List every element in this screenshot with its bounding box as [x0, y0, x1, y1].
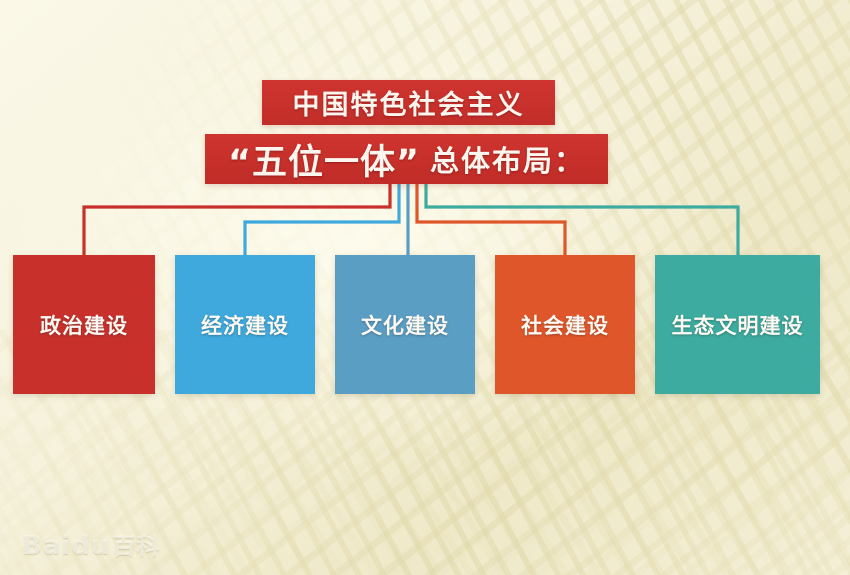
- watermark-brand: Baidu: [22, 531, 110, 561]
- pillar-label-shengtai: 生态文明建设: [672, 310, 804, 340]
- title-bar-secondary: “五位一体” 总体布局：: [205, 134, 608, 184]
- pillar-box-wenhua[interactable]: 文化建设: [335, 255, 475, 394]
- pillar-label-jingji: 经济建设: [201, 310, 289, 340]
- pillar-box-zhengzhi[interactable]: 政治建设: [13, 255, 155, 394]
- pillar-box-shengtai[interactable]: 生态文明建设: [655, 255, 820, 394]
- title-line1-text: 中国特色社会主义: [293, 83, 525, 122]
- pillar-label-wenhua: 文化建设: [361, 310, 449, 340]
- connector-shengtai: [426, 184, 738, 255]
- title-line2-emphasis: “五位一体”: [228, 134, 420, 185]
- connector-shehui: [417, 184, 565, 255]
- pillar-box-shehui[interactable]: 社会建设: [495, 255, 635, 394]
- pillar-label-shehui: 社会建设: [521, 310, 609, 340]
- baidu-watermark: Baidu百科: [22, 527, 160, 561]
- pillar-box-jingji[interactable]: 经济建设: [175, 255, 315, 394]
- pillar-label-zhengzhi: 政治建设: [40, 310, 128, 340]
- title-line2-rest: 总体布局：: [430, 138, 585, 180]
- watermark-suffix: 百科: [112, 534, 160, 560]
- title-bar-primary: 中国特色社会主义: [262, 80, 555, 125]
- connector-zhengzhi: [84, 184, 390, 255]
- connector-jingji: [245, 184, 399, 255]
- infographic-canvas: 中国特色社会主义 “五位一体” 总体布局： 政治建设经济建设文化建设社会建设生态…: [0, 0, 850, 575]
